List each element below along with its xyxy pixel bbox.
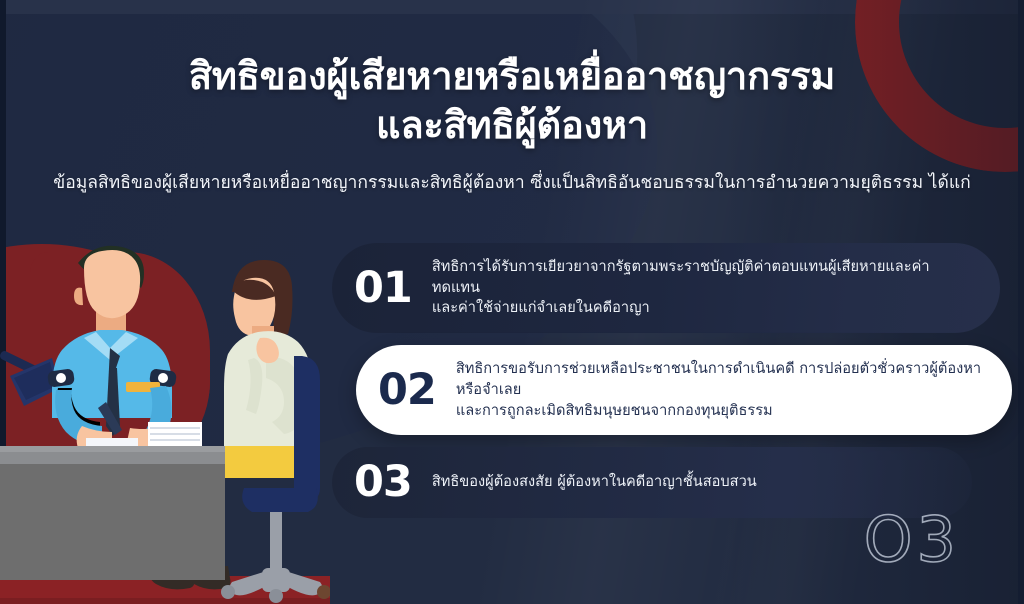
item-card-02[interactable]: 02 สิทธิการขอรับการช่วยเหลือประชาชนในการ… [356,345,1012,435]
stack-of-papers [148,422,202,446]
infographic-canvas: สิทธิของผู้เสียหายหรือเหยื่ออาชญากรรม แล… [0,0,1024,604]
item-description-01-line-1: สิทธิการได้รับการเยียวยาจากรัฐตามพระราชบ… [432,257,974,298]
item-description-02: สิทธิการขอรับการช่วยเหลือประชาชนในการดำเ… [456,359,986,421]
item-number-01: 01 [354,267,432,310]
item-description-03: สิทธิของผู้ต้องสงสัย ผู้ต้องหาในคดีอาญาช… [432,472,757,493]
page-title-line-2: และสิทธิผู้ต้องหา [0,101,1024,150]
item-description-01-line-2: และค่าใช้จ่ายแก่จำเลยในคดีอาญา [432,298,974,319]
gray-desk [0,446,225,580]
police-officer [47,246,177,448]
page-title: สิทธิของผู้เสียหายหรือเหยื่ออาชญากรรม แล… [0,52,1024,149]
illustration-police-interview [0,230,330,604]
list-item[interactable]: 02 สิทธิการขอรับการช่วยเหลือประชาชนในการ… [332,345,1024,435]
list-item[interactable]: 01 สิทธิการได้รับการเยียวยาจากรัฐตามพระร… [332,243,1024,333]
rights-list: 01 สิทธิการได้รับการเยียวยาจากรัฐตามพระร… [332,243,1024,530]
page-subtitle: ข้อมูลสิทธิของผู้เสียหายหรือเหยื่ออาชญาก… [0,172,1024,195]
item-card-01[interactable]: 01 สิทธิการได้รับการเยียวยาจากรัฐตามพระร… [332,243,1000,333]
item-description-03-line-1: สิทธิของผู้ต้องสงสัย ผู้ต้องหาในคดีอาญาช… [432,472,757,493]
item-description-01: สิทธิการได้รับการเยียวยาจากรัฐตามพระราชบ… [432,257,974,319]
item-number-03: 03 [354,461,432,504]
item-number-02: 02 [378,369,456,412]
item-description-02-line-2: และการถูกละเมิดสิทธิมนุษยชนจากกองทุนยุติ… [456,401,986,422]
item-description-02-line-1: สิทธิการขอรับการช่วยเหลือประชาชนในการดำเ… [456,359,986,400]
page-title-line-1: สิทธิของผู้เสียหายหรือเหยื่ออาชญากรรม [189,54,835,98]
page-number-watermark: O3 [864,503,960,576]
